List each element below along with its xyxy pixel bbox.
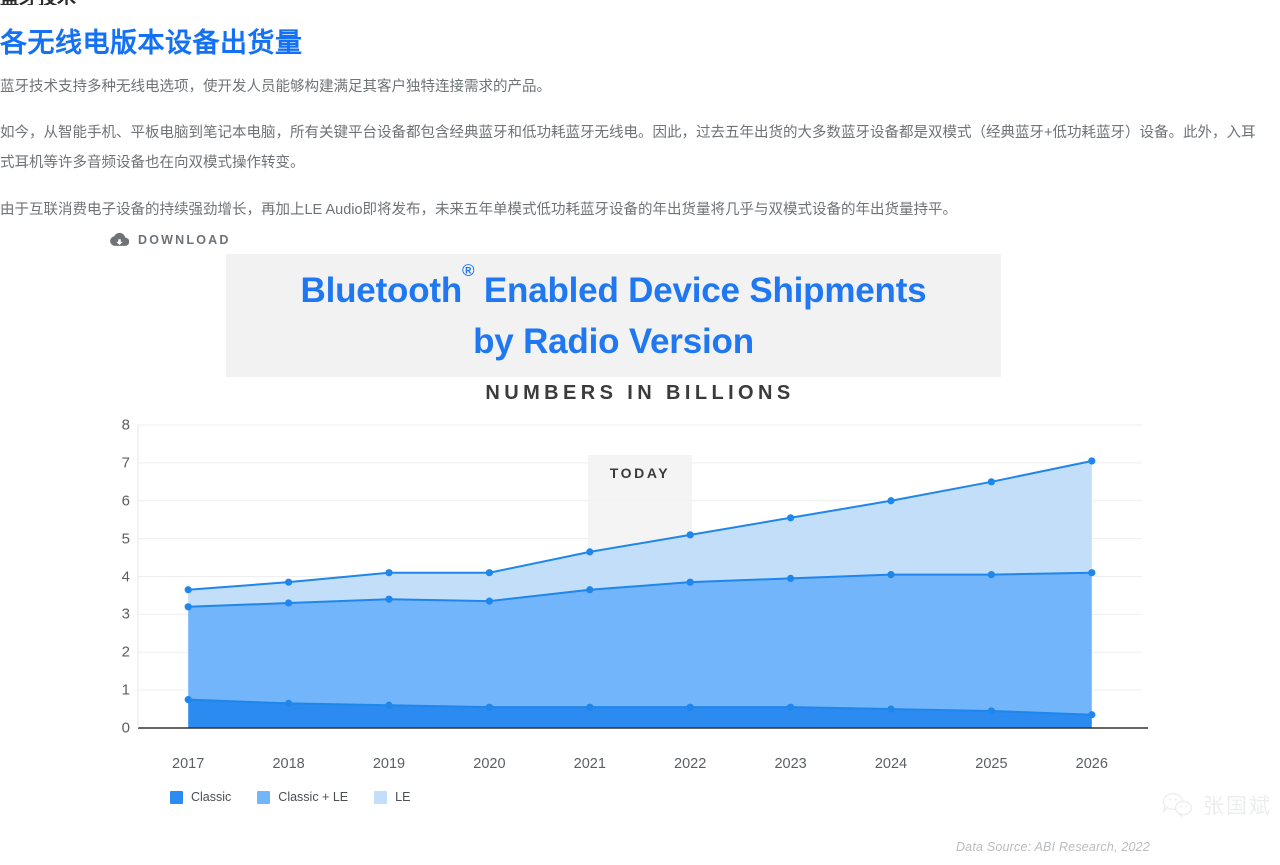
chart-figure: DOWNLOAD Bluetooth® Enabled Device Shipm…: [0, 222, 1280, 865]
legend-item-classic[interactable]: Classic: [170, 790, 231, 804]
x-tick-2022: 2022: [674, 756, 706, 772]
x-tick-2024: 2024: [875, 756, 907, 772]
data-point: [185, 603, 192, 610]
page-title: 各无线电版本设备出货量: [0, 25, 303, 61]
data-point: [787, 514, 794, 521]
data-point: [787, 575, 794, 582]
chart-legend: ClassicClassic + LELE: [170, 790, 410, 804]
x-tick-2021: 2021: [574, 756, 606, 772]
cloud-download-icon: [110, 232, 129, 247]
data-point: [385, 569, 392, 576]
chart-title: Bluetooth® Enabled Device Shipments by R…: [226, 258, 1001, 367]
data-point: [988, 707, 995, 714]
legend-item-classic-le[interactable]: Classic + LE: [257, 790, 348, 804]
page-root: 蓝牙技术 各无线电版本设备出货量 蓝牙技术支持多种无线电选项，使开发人员能够构建…: [0, 0, 1280, 865]
legend-swatch-icon: [374, 791, 387, 804]
legend-label: Classic + LE: [278, 790, 348, 804]
legend-item-le[interactable]: LE: [374, 790, 410, 804]
registered-mark: ®: [462, 261, 474, 280]
chart-title-line1: Bluetooth® Enabled Device Shipments: [301, 271, 927, 310]
x-axis-labels: 2017201820192020202120222023202420252026: [0, 756, 1280, 780]
data-point: [385, 596, 392, 603]
legend-swatch-icon: [170, 791, 183, 804]
data-point: [988, 478, 995, 485]
data-source-note: Data Source: ABI Research, 2022: [956, 840, 1150, 854]
watermark: 张国斌: [1161, 790, 1272, 820]
data-point: [486, 704, 493, 711]
data-point: [1088, 711, 1095, 718]
paragraph-2: 如今，从智能手机、平板电脑到笔记本电脑，所有关键平台设备都包含经典蓝牙和低功耗蓝…: [0, 118, 1262, 178]
download-button[interactable]: DOWNLOAD: [110, 232, 231, 247]
legend-swatch-icon: [257, 791, 270, 804]
data-point: [687, 704, 694, 711]
x-tick-2017: 2017: [172, 756, 204, 772]
legend-label: LE: [395, 790, 410, 804]
x-tick-2018: 2018: [272, 756, 304, 772]
data-point: [687, 579, 694, 586]
data-point: [586, 586, 593, 593]
x-tick-2019: 2019: [373, 756, 405, 772]
plot-area: 012345678 TODAY: [0, 417, 1280, 762]
data-point: [586, 548, 593, 555]
data-point: [486, 569, 493, 576]
paragraph-1: 蓝牙技术支持多种无线电选项，使开发人员能够构建满足其客户独特连接需求的产品。: [0, 72, 551, 102]
data-point: [687, 531, 694, 538]
data-point: [586, 704, 593, 711]
data-point: [887, 705, 894, 712]
data-point: [185, 696, 192, 703]
download-label: DOWNLOAD: [138, 233, 231, 247]
data-point: [285, 579, 292, 586]
legend-label: Classic: [191, 790, 231, 804]
data-point: [285, 599, 292, 606]
x-tick-2023: 2023: [774, 756, 806, 772]
paragraph-3: 由于互联消费电子设备的持续强劲增长，再加上LE Audio即将发布，未来五年单模…: [0, 195, 1270, 225]
data-point: [887, 571, 894, 578]
data-point: [787, 704, 794, 711]
data-point: [988, 571, 995, 578]
chart-title-line2: by Radio Version: [473, 322, 754, 361]
today-annotation: TODAY: [610, 465, 670, 481]
chart-subtitle: NUMBERS IN BILLIONS: [0, 382, 1280, 405]
wechat-icon: [1161, 791, 1195, 819]
data-point: [1088, 569, 1095, 576]
data-point: [285, 700, 292, 707]
data-point: [1088, 457, 1095, 464]
x-tick-2026: 2026: [1076, 756, 1108, 772]
data-point: [385, 702, 392, 709]
watermark-text: 张国斌: [1203, 790, 1272, 820]
data-point: [185, 586, 192, 593]
data-point: [887, 497, 894, 504]
data-point: [486, 598, 493, 605]
cut-off-heading: 蓝牙技术: [0, 0, 300, 5]
x-tick-2025: 2025: [975, 756, 1007, 772]
x-tick-2020: 2020: [473, 756, 505, 772]
